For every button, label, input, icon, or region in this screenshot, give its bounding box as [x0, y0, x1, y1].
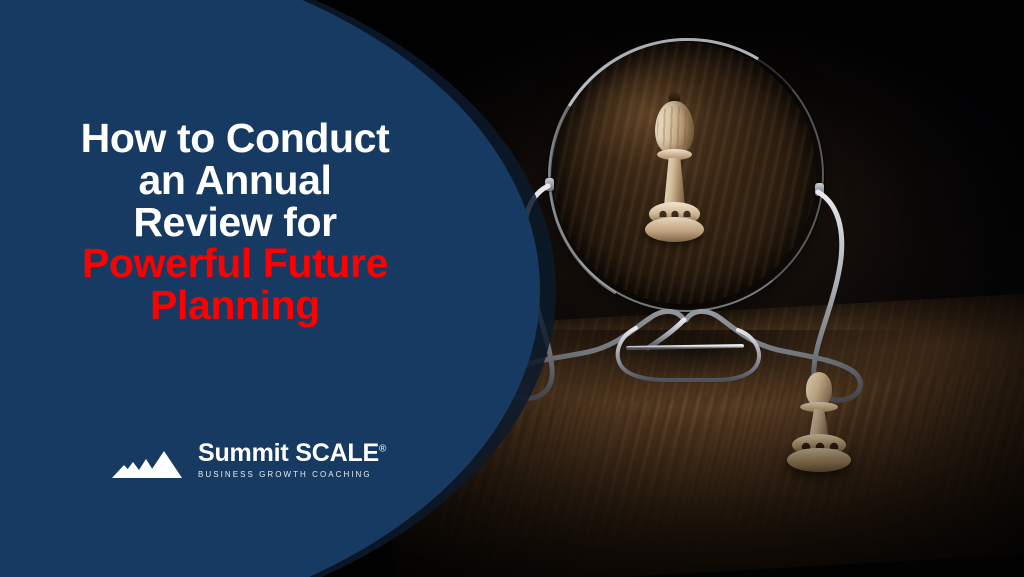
headline-line-3: Review for [35, 202, 435, 244]
logo-tagline: BUSINESS GROWTH COACHING [198, 470, 386, 479]
logo-text-block: Summit SCALE® BUSINESS GROWTH COACHING [198, 441, 386, 479]
pawn-head [806, 372, 832, 406]
logo-name: Summit SCALE® [198, 441, 386, 466]
logo-name-part2: SCALE [295, 439, 379, 467]
headline-line-2: an Annual [35, 160, 435, 202]
headline-accent-line-2: Planning [35, 285, 435, 327]
mountain-peaks-icon [108, 438, 186, 482]
registered-mark-icon: ® [379, 444, 386, 455]
copy-block: How to Conduct an Annual Review for Powe… [0, 0, 470, 577]
page-title: How to Conduct an Annual Review for Powe… [35, 118, 435, 327]
headline-line-1: How to Conduct [35, 118, 435, 160]
brand-logo: Summit SCALE® BUSINESS GROWTH COACHING [108, 438, 386, 482]
headline-accent-line-1: Powerful Future [35, 243, 435, 285]
chess-pawn [786, 372, 852, 476]
blog-banner: How to Conduct an Annual Review for Powe… [0, 0, 1024, 577]
logo-name-part1: Summit [198, 439, 288, 467]
pawn-base-lower [787, 448, 851, 472]
